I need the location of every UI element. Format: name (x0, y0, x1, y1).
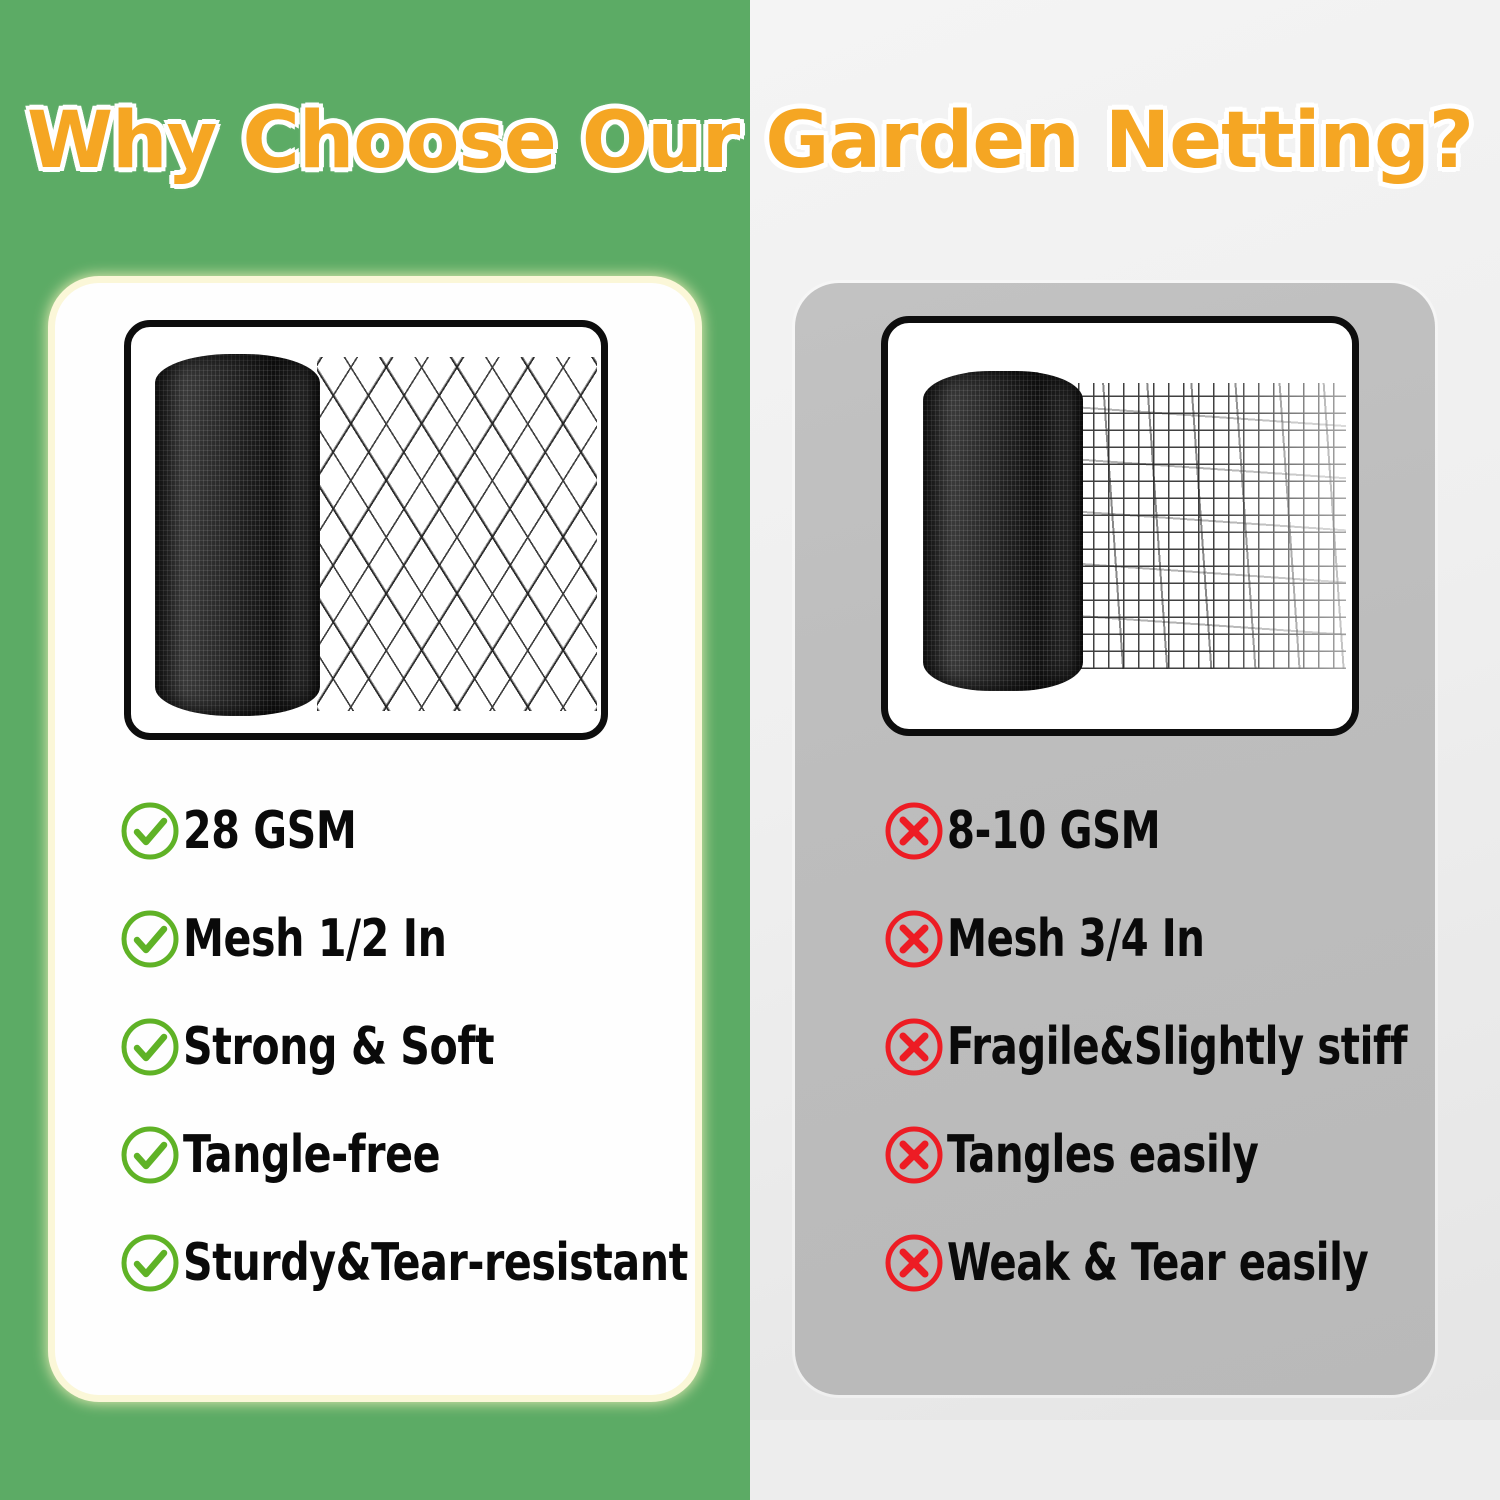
feature-label: Tangle-free (183, 1129, 440, 1181)
right-background-footer (750, 1420, 1500, 1500)
check-circle-icon (119, 1232, 181, 1294)
feature-label: 8-10 GSM (947, 805, 1160, 857)
feature-label: Weak & Tear easily (947, 1237, 1368, 1289)
check-circle-icon (119, 1016, 181, 1078)
cross-circle-icon (883, 1016, 945, 1078)
list-item: 8-10 GSM (883, 777, 1433, 885)
other-product-feature-list: 8-10 GSM Mesh 3/4 In (883, 777, 1433, 1317)
cross-circle-icon (883, 1232, 945, 1294)
other-product-photo (888, 323, 1352, 729)
feature-label: 28 GSM (183, 805, 356, 857)
list-item: Mesh 3/4 In (883, 885, 1433, 993)
our-product-photo (131, 327, 601, 733)
our-product-feature-list: 28 GSM Mesh 1/2 In Str (119, 777, 689, 1317)
comparison-infographic: Why Choose Our Garden Netting? 28 GSM (0, 0, 1500, 1500)
diamond-mesh-texture (317, 357, 597, 711)
other-product-photo-frame (881, 316, 1359, 736)
check-circle-icon (119, 800, 181, 862)
list-item: Strong & Soft (119, 993, 689, 1101)
feature-label: Strong & Soft (183, 1021, 494, 1073)
cross-circle-icon (883, 1124, 945, 1186)
list-item: 28 GSM (119, 777, 689, 885)
netting-roll-shape (923, 371, 1083, 691)
check-circle-icon (119, 908, 181, 970)
list-item: Sturdy&Tear-resistant (119, 1209, 689, 1317)
list-item: Weak & Tear easily (883, 1209, 1433, 1317)
other-product-card: 8-10 GSM Mesh 3/4 In (795, 283, 1435, 1395)
our-product-card: 28 GSM Mesh 1/2 In Str (55, 283, 695, 1395)
list-item: Tangles easily (883, 1101, 1433, 1209)
cross-circle-icon (883, 800, 945, 862)
list-item: Tangle-free (119, 1101, 689, 1209)
cross-circle-icon (883, 908, 945, 970)
feature-label: Mesh 3/4 In (947, 913, 1205, 965)
list-item: Mesh 1/2 In (119, 885, 689, 993)
feature-label: Tangles easily (947, 1129, 1258, 1181)
our-product-photo-frame (124, 320, 608, 740)
list-item: Fragile&Slightly stiff (883, 993, 1433, 1101)
page-title: Why Choose Our Garden Netting? (0, 96, 1500, 186)
check-circle-icon (119, 1124, 181, 1186)
netting-roll-shape (155, 354, 320, 716)
grid-mesh-texture (1078, 383, 1346, 669)
feature-label: Sturdy&Tear-resistant (183, 1237, 688, 1289)
feature-label: Fragile&Slightly stiff (947, 1021, 1407, 1073)
feature-label: Mesh 1/2 In (183, 913, 446, 965)
